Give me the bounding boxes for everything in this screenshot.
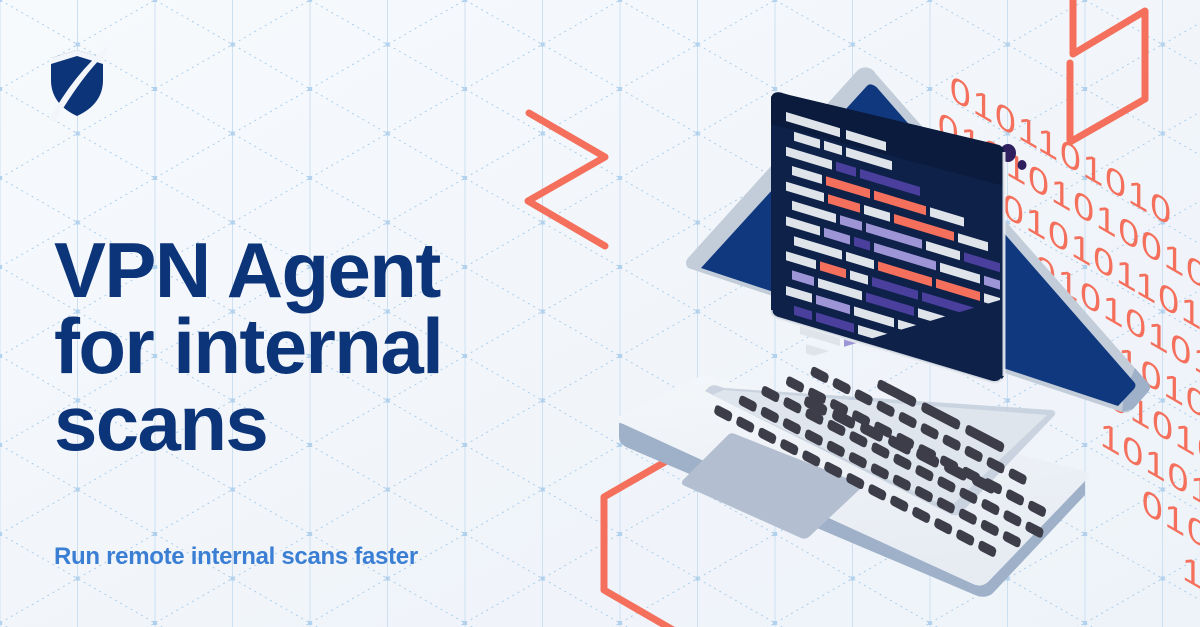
code-line-bar xyxy=(894,371,918,387)
hero-text-block: VPN Agent for internal scans xyxy=(54,232,574,461)
code-line-bar xyxy=(846,356,890,378)
camera-dot-small xyxy=(1018,160,1027,170)
keyboard-key xyxy=(785,375,805,394)
page-subtitle: Run remote internal scans faster xyxy=(54,543,418,571)
keyboard-key xyxy=(832,377,852,396)
code-line-bar xyxy=(806,344,842,364)
page-title: VPN Agent for internal scans xyxy=(54,232,574,461)
hero-banner: 0101101010 01010101001010101 01010101101… xyxy=(0,0,1200,627)
keyboard-key xyxy=(810,366,830,385)
shield-swoosh-icon xyxy=(46,46,108,120)
